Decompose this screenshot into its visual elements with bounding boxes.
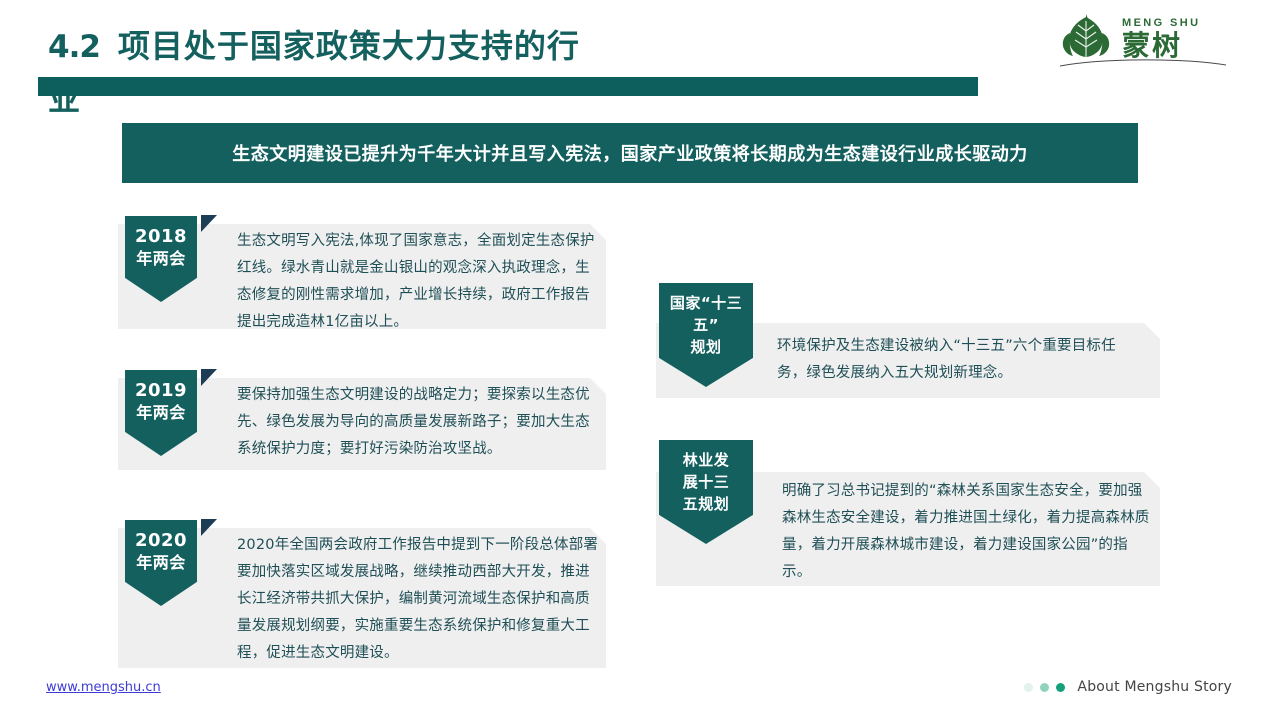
policy-card-2019-text: 要保持加强生态文明建设的战略定力；要探索以生态优先、绿色发展为导向的高质量发展新… [237,382,599,463]
title-text-line-1: 项目处于国家政策大力支持的行 [118,27,580,65]
policy-card-2018-text: 生态文明写入宪法,体现了国家意志，全面划定生态保护红线。绿水青山就是金山银山的观… [237,228,599,336]
footer-website-link[interactable]: www.mengshu.cn [46,680,161,695]
policy-badge-2020-sub: 年两会 [135,552,187,574]
policy-badge-135-plan-label: 国家“十三 五” 规划 [670,292,742,358]
policy-badge-135-plan-inner: 国家“十三 五” 规划 [670,292,742,358]
headline-banner: 生态文明建设已提升为千年大计并且写入宪法，国家产业政策将长期成为生态建设行业成长… [122,123,1138,183]
policy-badge-2018-year: 2018 [135,225,187,248]
logo-swoosh-icon [1058,58,1228,68]
page-title: 4.2项目处于国家政策大力支持的行 业 [48,20,808,110]
headline-banner-text: 生态文明建设已提升为千年大计并且写入宪法，国家产业政策将长期成为生态建设行业成长… [232,140,1028,166]
dot-3-icon [1056,683,1065,692]
policy-badge-forestry-plan-inner: 林业发 展十三 五规划 [683,449,730,515]
policy-card-2020-text: 2020年全国两会政府工作报告中提到下一阶段总体部署要加快落实区域发展战略，继续… [237,532,599,667]
logo-english: MENG SHU [1122,16,1200,30]
slide-root: 4.2项目处于国家政策大力支持的行 业 MENG [0,0,1280,720]
policy-badge-2019-sub: 年两会 [135,402,187,424]
policy-card-forestry-plan-text: 明确了习总书记提到的“森林关系国家生态安全，要加强森林生态安全建设，着力推进国土… [782,478,1150,586]
policy-badge-2020-year: 2020 [135,529,187,552]
logo-wordmark: MENG SHU 蒙树 [1122,16,1200,62]
footer-brand-tag: About Mengshu Story [1024,679,1232,695]
title-line-1: 4.2项目处于国家政策大力支持的行 [48,20,808,73]
dot-2-icon [1040,683,1049,692]
title-underline-bar [38,77,978,96]
section-number: 4.2 [48,29,100,65]
dot-1-icon [1024,683,1033,692]
policy-badge-2019-inner: 2019 年两会 [135,379,187,424]
policy-badge-forestry-plan-label: 林业发 展十三 五规划 [683,449,730,515]
policy-badge-2020-inner: 2020 年两会 [135,529,187,574]
policy-badge-2018-inner: 2018 年两会 [135,225,187,270]
footer-label: About Mengshu Story [1077,679,1232,695]
policy-badge-2019-year: 2019 [135,379,187,402]
brand-logo: MENG SHU 蒙树 [1058,8,1228,70]
policy-badge-2018-sub: 年两会 [135,248,187,270]
policy-card-135-plan-text: 环境保护及生态建设被纳入“十三五”六个重要目标任务，绿色发展纳入五大规划新理念。 [777,333,1145,387]
